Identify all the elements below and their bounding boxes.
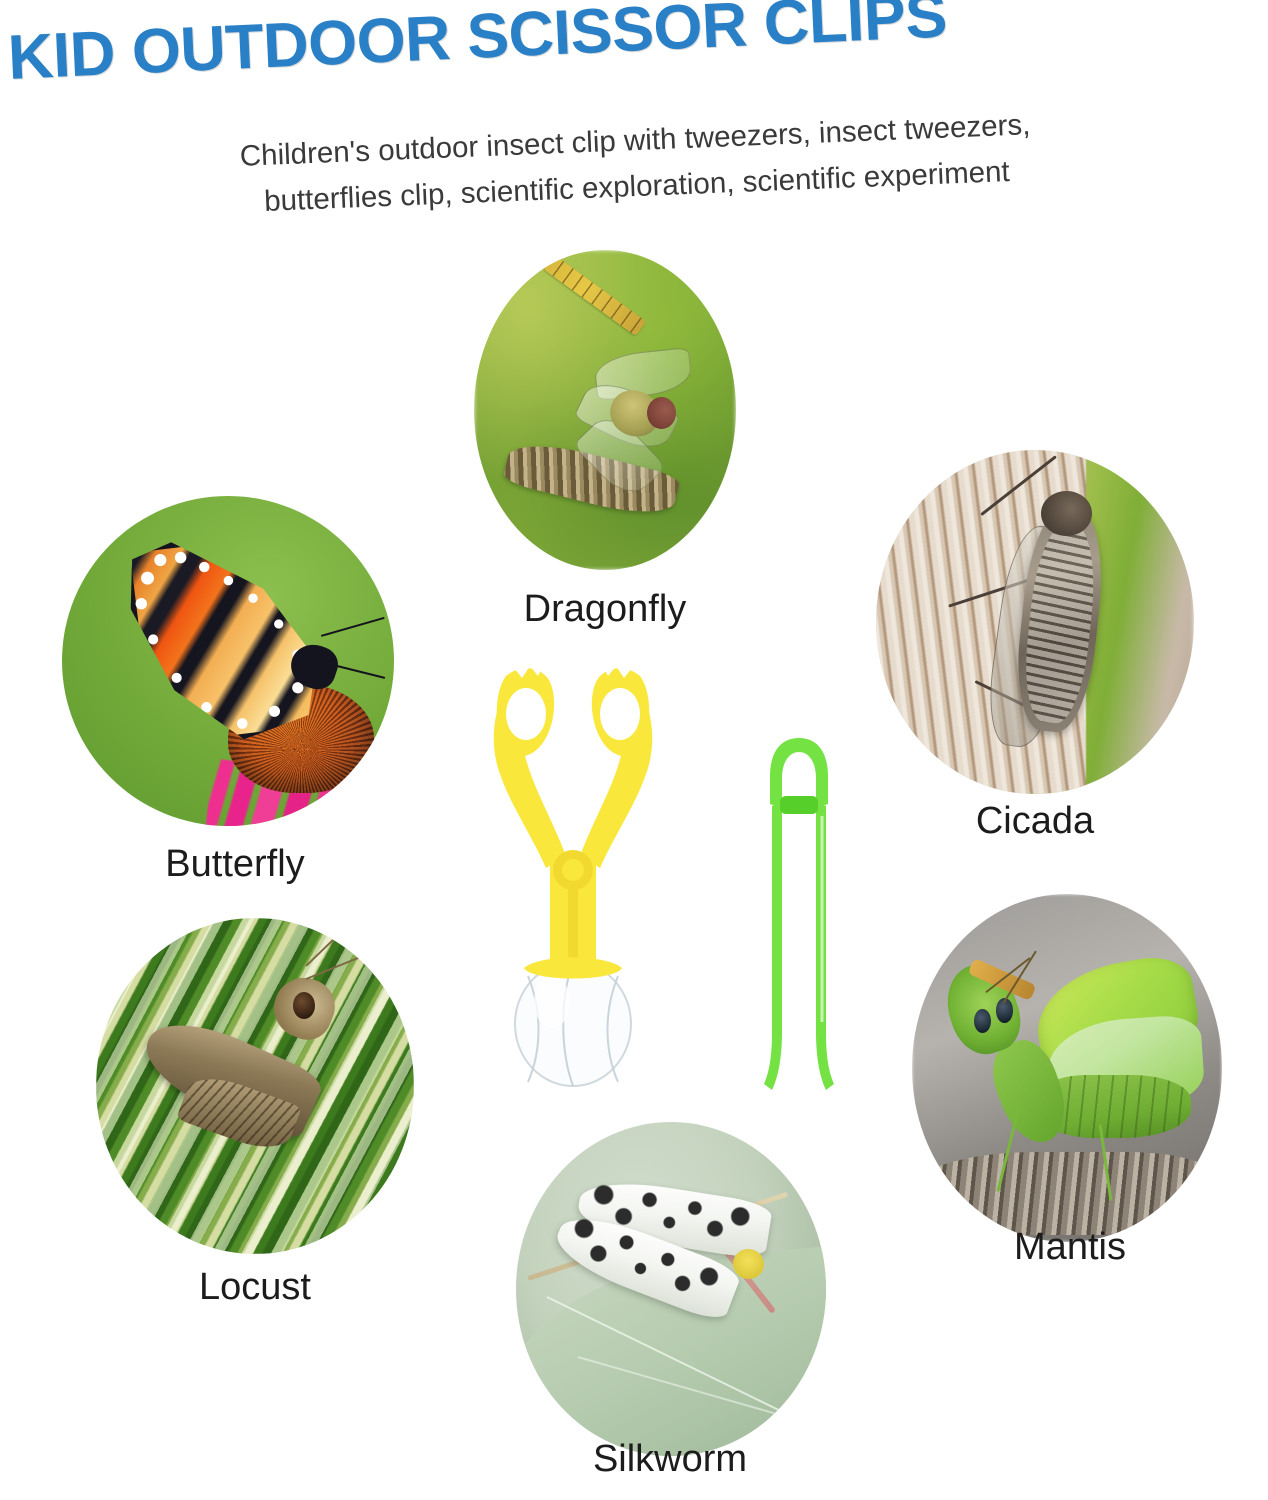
cicada-head — [1041, 491, 1092, 536]
insect-label-butterfly: Butterfly — [110, 843, 360, 886]
insect-photo-locust[interactable] — [96, 918, 414, 1254]
scissor-left-finger-hole — [506, 688, 546, 740]
scissor-right-finger-hole — [600, 688, 640, 740]
tweezer-arm-left — [764, 802, 782, 1090]
product-infographic: KID OUTDOOR SCISSOR CLIPS Children's out… — [0, 0, 1268, 1500]
insect-photo-mantis[interactable] — [912, 894, 1222, 1242]
mantis-eye-left — [974, 1009, 991, 1033]
locust-eye — [293, 992, 315, 1019]
insect-label-dragonfly: Dragonfly — [470, 588, 740, 631]
insect-photo-silkworm[interactable] — [516, 1122, 826, 1456]
scissor-clip-tool[interactable] — [484, 658, 662, 1108]
mantis-perch-bark — [918, 1152, 1216, 1236]
header: KID OUTDOOR SCISSOR CLIPS Children's out… — [0, 0, 1268, 240]
scissor-pivot-center — [562, 859, 584, 881]
tweezer-tool[interactable] — [756, 732, 842, 1098]
mantis-abdomen — [1042, 1075, 1191, 1138]
insect-label-silkworm: Silkworm — [520, 1438, 820, 1481]
silkworm-scene — [516, 1122, 826, 1456]
mantis-scene — [912, 894, 1222, 1242]
dragonfly-head — [647, 397, 676, 429]
insect-photo-butterfly[interactable] — [62, 496, 394, 826]
butterfly-scene — [62, 496, 394, 826]
page-subtitle: Children's outdoor insect clip with twee… — [95, 96, 1178, 231]
insect-label-locust: Locust — [130, 1266, 380, 1309]
page-title: KID OUTDOOR SCISSOR CLIPS — [6, 0, 1260, 94]
ball-highlight — [534, 976, 570, 1028]
locust-scene — [96, 918, 414, 1254]
insect-label-mantis: Mantis — [940, 1226, 1200, 1269]
scissor-shaft-ridge — [568, 884, 578, 960]
cicada-scene — [876, 450, 1194, 794]
insect-label-cicada: Cicada — [905, 800, 1165, 843]
insect-photo-cicada[interactable] — [876, 450, 1194, 794]
tweezer-hinge — [780, 796, 818, 814]
insect-photo-dragonfly[interactable] — [474, 250, 736, 570]
dragonfly-scene — [474, 250, 736, 570]
tweezer-arm-right — [816, 802, 834, 1090]
